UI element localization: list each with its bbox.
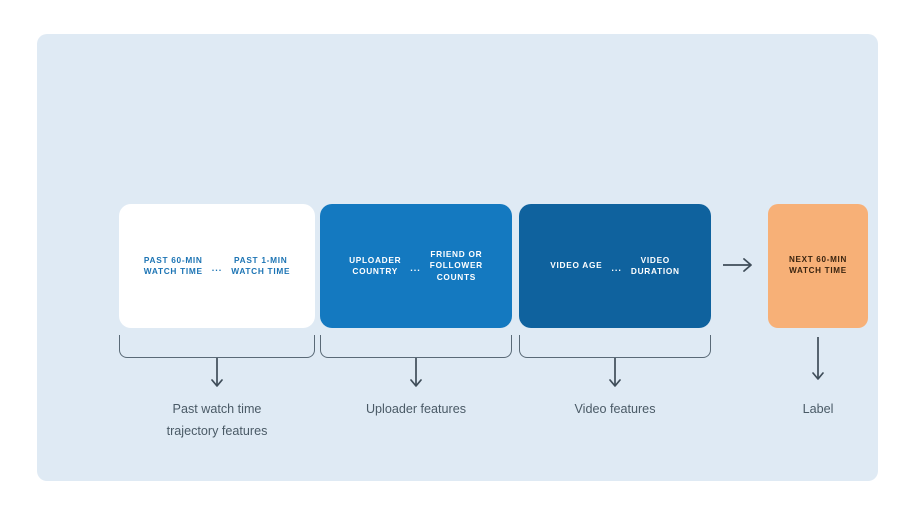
feature-chip-first: UPLOADER COUNTRY [349, 255, 401, 277]
down-arrow-icon [409, 358, 423, 392]
feature-box-video: VIDEO AGE ... VIDEO DURATION [519, 204, 711, 328]
ellipsis-icon: ... [611, 264, 622, 273]
group-bracket-uploader [320, 335, 512, 358]
down-arrow-icon [811, 337, 825, 385]
feature-box-content: VIDEO AGE ... VIDEO DURATION [540, 255, 689, 277]
group-bracket-video [519, 335, 711, 358]
diagram-panel: PAST 60-MIN WATCH TIME ... PAST 1-MIN WA… [37, 34, 878, 481]
feature-box-past-watch-time: PAST 60-MIN WATCH TIME ... PAST 1-MIN WA… [119, 204, 315, 328]
right-arrow-icon [723, 256, 757, 274]
group-caption-label: Label [768, 398, 868, 420]
ellipsis-icon: ... [410, 264, 421, 273]
feature-chip-last: PAST 1-MIN WATCH TIME [231, 255, 290, 277]
down-arrow-icon [210, 358, 224, 392]
feature-box-content: UPLOADER COUNTRY ... FRIEND OR FOLLOWER … [339, 249, 493, 283]
feature-chip-first: VIDEO AGE [550, 260, 602, 271]
ellipsis-icon: ... [212, 264, 223, 273]
feature-chip-last: FRIEND OR FOLLOWER COUNTS [430, 249, 483, 283]
label-box-next-watch-time: NEXT 60-MIN WATCH TIME [768, 204, 868, 328]
feature-box-uploader: UPLOADER COUNTRY ... FRIEND OR FOLLOWER … [320, 204, 512, 328]
feature-chip-first: PAST 60-MIN WATCH TIME [144, 255, 203, 277]
group-caption-video: Video features [519, 398, 711, 420]
group-caption-past-watch-time: Past watch time trajectory features [119, 398, 315, 442]
down-arrow-icon [608, 358, 622, 392]
feature-chip-last: VIDEO DURATION [631, 255, 680, 277]
label-box-text: NEXT 60-MIN WATCH TIME [789, 255, 847, 277]
feature-box-content: PAST 60-MIN WATCH TIME ... PAST 1-MIN WA… [134, 255, 300, 277]
group-bracket-past-watch-time [119, 335, 315, 358]
diagram-canvas: PAST 60-MIN WATCH TIME ... PAST 1-MIN WA… [0, 0, 915, 515]
group-caption-uploader: Uploader features [320, 398, 512, 420]
